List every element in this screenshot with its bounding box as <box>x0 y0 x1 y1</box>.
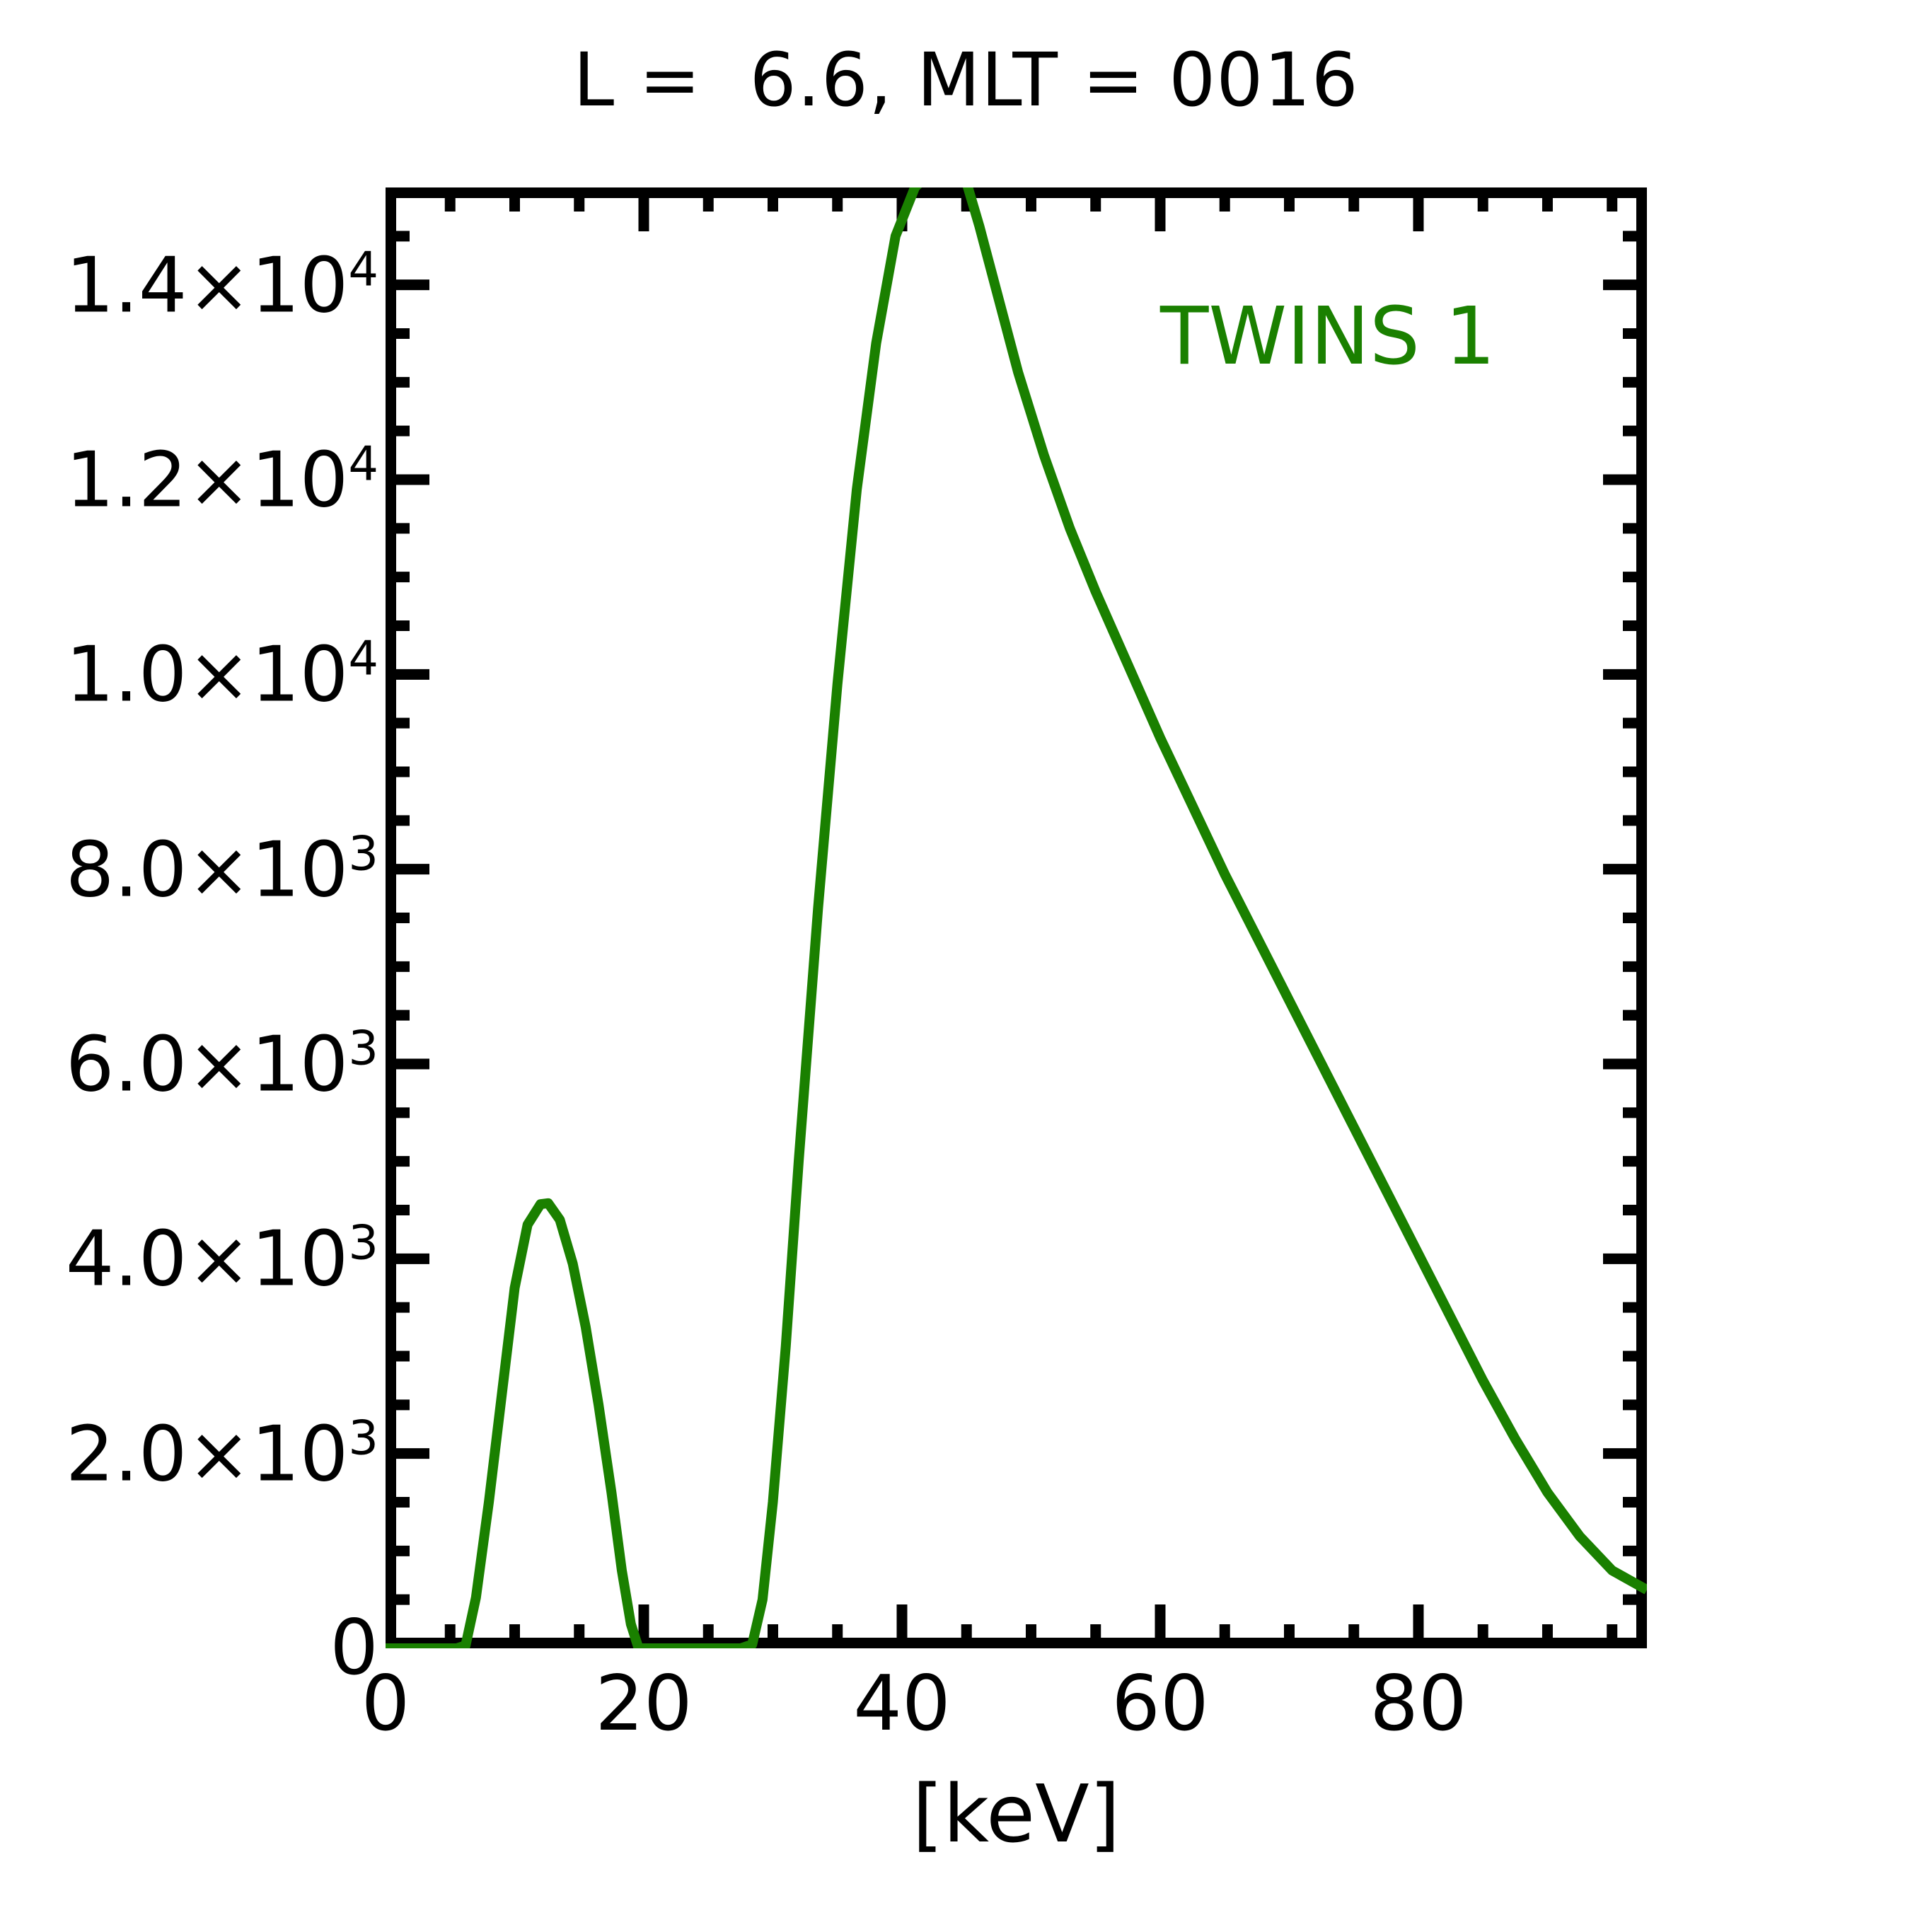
axis-ticks <box>386 187 1647 1648</box>
x-axis-tick-label: 20 <box>595 1666 692 1742</box>
y-axis-tick-label: 6.0×103 <box>66 1025 378 1104</box>
y-axis-tick-label: 8.0×103 <box>66 830 378 908</box>
x-axis-tick-label: 0 <box>361 1666 410 1742</box>
x-axis-label: [keV] <box>386 1769 1647 1861</box>
y-axis-tick-label: 1.0×104 <box>66 635 378 714</box>
x-axis-tick-label: 80 <box>1370 1666 1467 1742</box>
data-line-twins-1 <box>386 187 1647 1648</box>
page-title: L = 6.6, MLT = 0016 <box>0 37 1932 123</box>
x-axis-tick-label: 60 <box>1111 1666 1208 1742</box>
x-axis-tick-label: 40 <box>853 1666 950 1742</box>
y-axis-tick-label: 4.0×103 <box>66 1220 378 1298</box>
legend-entry-twins-1: TWINS 1 <box>1160 297 1496 376</box>
data-series-group <box>386 187 1647 1648</box>
y-axis-tick-label: 1.2×104 <box>66 441 378 519</box>
y-axis-tick-label: 2.0×103 <box>66 1414 378 1493</box>
plot-canvas <box>386 187 1647 1648</box>
chart-figure: L = 6.6, MLT = 0016 1.4×1041.2×1041.0×10… <box>0 0 1932 1932</box>
y-axis-tick-label: 1.4×104 <box>66 245 378 324</box>
